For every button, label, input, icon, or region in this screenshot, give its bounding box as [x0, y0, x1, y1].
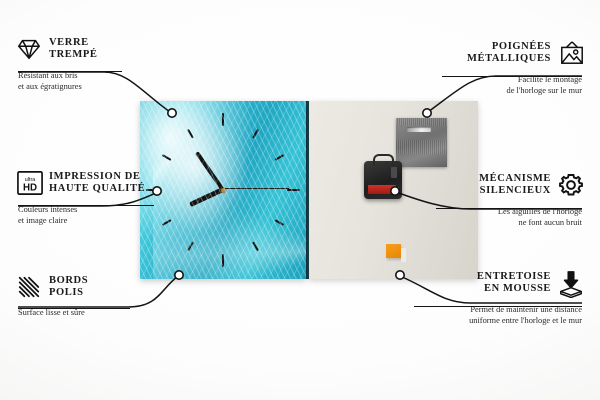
diamond-icon	[16, 36, 42, 62]
wall-frame-icon	[558, 40, 584, 66]
feature-title: BORDS POLIS	[49, 275, 88, 300]
foam-spacer	[386, 244, 401, 258]
clock-center-pin	[221, 188, 226, 193]
feature-subtitle: Surface lisse et sûre	[16, 308, 196, 319]
clock-tick	[187, 129, 194, 139]
feature-subtitle: Facilite le montage de l'horloge sur le …	[404, 75, 584, 96]
feature-verre-trempe: VERRE TREMPÉ Résistant aux bris et aux é…	[16, 36, 196, 92]
feature-title: POIGNÉES MÉTALLIQUES	[467, 41, 551, 66]
svg-text:HD: HD	[23, 182, 37, 193]
feature-rule	[18, 205, 154, 206]
movement-shaft	[391, 167, 397, 178]
clock-tick	[162, 154, 172, 161]
feature-rule	[414, 306, 582, 307]
gear-icon	[558, 172, 584, 198]
ultra-hd-badge-icon: ultra HD	[16, 170, 42, 196]
clock-tick	[222, 113, 224, 126]
feature-mecanisme-silencieux: MÉCANISME SILENCIEUX Les aiguilles de l'…	[400, 172, 584, 228]
movement-hook	[373, 154, 394, 166]
metal-hanger-plate	[396, 118, 447, 167]
feature-subtitle: Couleurs intenses et image claire	[16, 205, 216, 226]
feature-rule	[18, 71, 122, 72]
quartz-movement	[364, 161, 402, 199]
feature-bords-polis: BORDS POLIS Surface lisse et sûre	[16, 274, 196, 319]
feature-rule	[436, 208, 582, 209]
clock-tick	[287, 189, 300, 191]
feature-poignees-metalliques: POIGNÉES MÉTALLIQUES Facilite le montage…	[404, 40, 584, 96]
battery	[368, 185, 396, 194]
feature-subtitle: Permet de maintenir une distance uniform…	[388, 305, 584, 326]
clock-tick	[187, 242, 194, 252]
clock-tick	[222, 254, 224, 267]
feature-subtitle: Les aiguilles de l'horloge ne font aucun…	[400, 207, 584, 228]
foam-spacer-icon	[558, 270, 584, 296]
feature-rule	[442, 76, 582, 77]
feature-subtitle: Résistant aux bris et aux égratignures	[16, 71, 196, 92]
feature-impression-haute-qualite: ultra HD IMPRESSION DE HAUTE QUALITÉ Cou…	[16, 170, 216, 226]
hanger-slot	[407, 127, 431, 132]
feature-title: VERRE TREMPÉ	[49, 37, 98, 62]
infographic-canvas: VERRE TREMPÉ Résistant aux bris et aux é…	[0, 0, 600, 400]
clock-tick	[252, 241, 259, 251]
clock-tick	[252, 129, 259, 139]
feature-rule	[18, 308, 130, 309]
feature-title: MÉCANISME SILENCIEUX	[479, 173, 551, 198]
clock-tick	[275, 219, 285, 226]
feature-title: IMPRESSION DE HAUTE QUALITÉ	[49, 171, 145, 196]
feature-title: ENTRETOISE EN MOUSSE	[477, 271, 551, 296]
polished-edge-icon	[16, 274, 42, 300]
feature-entretoise-en-mousse: ENTRETOISE EN MOUSSE Permet de maintenir…	[388, 270, 584, 326]
clock-tick	[274, 154, 284, 161]
